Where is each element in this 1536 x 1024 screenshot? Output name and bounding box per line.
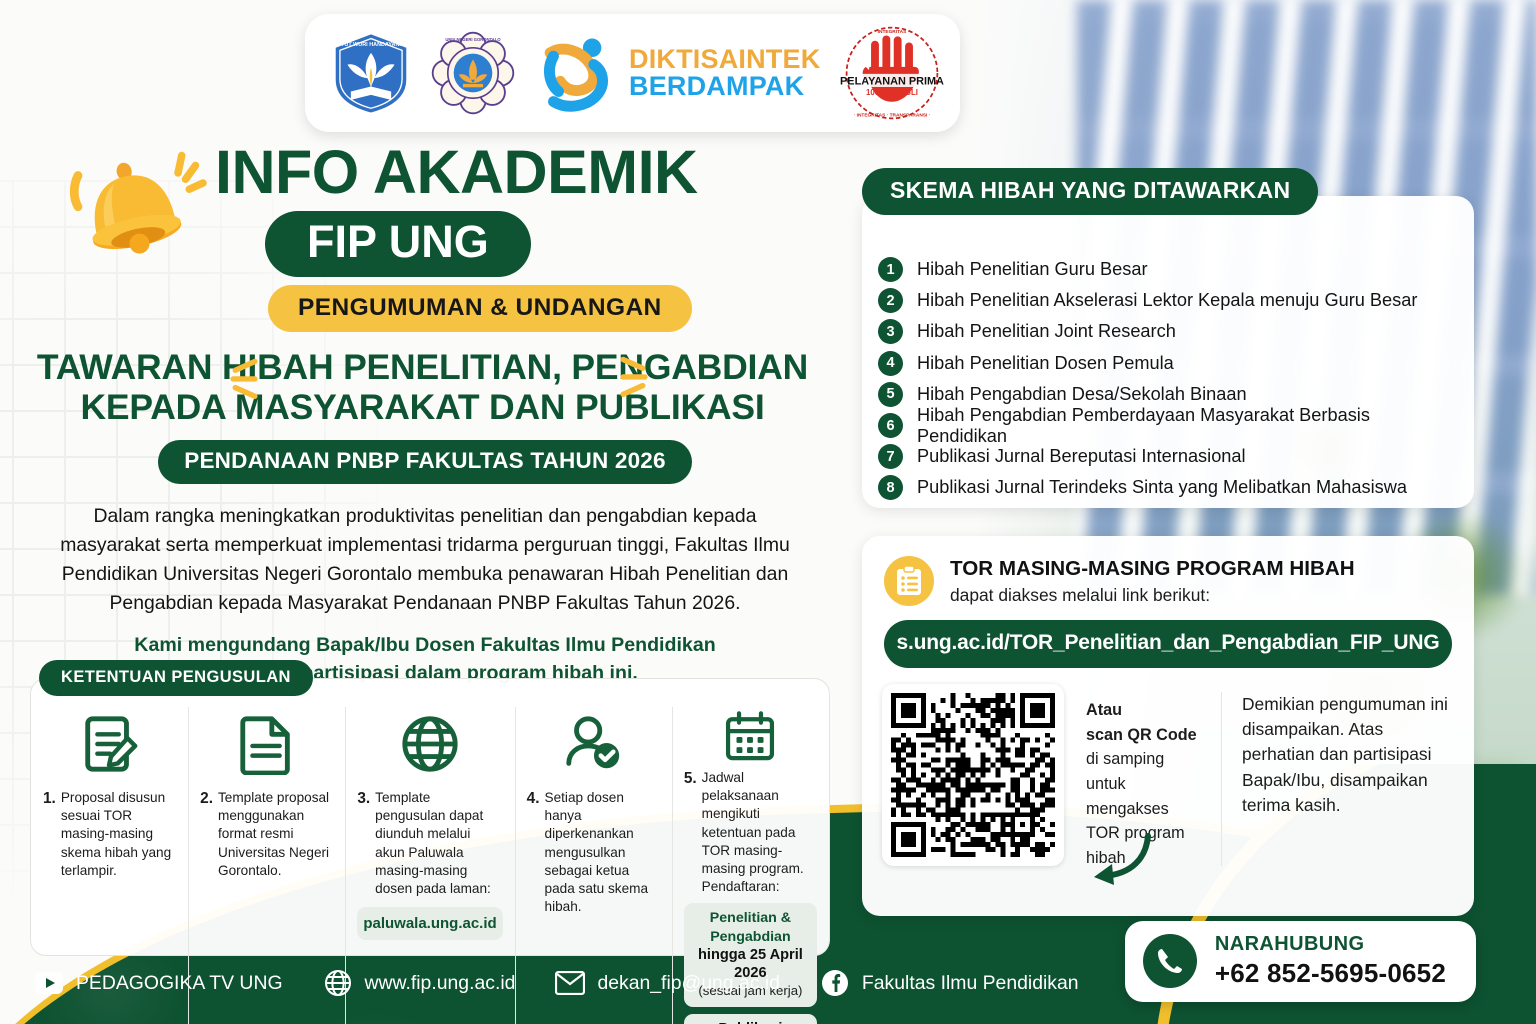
- tor-aside-text: Atau scan QR Code di samping untuk menga…: [1064, 684, 1222, 870]
- list-item-number: 8: [878, 475, 903, 500]
- diktisaintek-word-2: BERDAMPAK: [629, 73, 820, 100]
- footer-label: www.fip.ung.ac.id: [365, 972, 516, 995]
- list-item-number: 1.: [43, 789, 56, 880]
- qr-code[interactable]: [882, 684, 1064, 866]
- ketentuan-badge: KETENTUAN PENGUSULAN: [39, 660, 313, 696]
- tor-aside-line-1: Atau: [1086, 701, 1122, 719]
- youtube-icon: [34, 968, 64, 998]
- invitation-line-1: Kami mengundang Bapak/Ibu Dosen Fakultas…: [45, 632, 805, 660]
- list-item: 2 Hibah Penelitian Akselerasi Lektor Kep…: [878, 285, 1460, 316]
- list-item-number: 3.: [357, 789, 370, 898]
- tut-wuri-handayani-logo: TUT WURI HANDAYANI: [329, 31, 413, 115]
- list-item-label: Setiap dosen hanya diperkenankan mengusu…: [545, 789, 660, 916]
- ketentuan-text: 2. Template proposal menggunakan format …: [200, 789, 333, 880]
- diktisaintek-berdampak-logo: DIKTISAINTEK BERDAMPAK: [533, 31, 820, 115]
- tor-card: TOR MASING-MASING PROGRAM HIBAH dapat di…: [862, 536, 1474, 916]
- headline-line-2: KEPADA MASYARAKAT DAN PUBLIKASI: [0, 388, 845, 428]
- list-item-label: Proposal disusun sesuai TOR masing-masin…: [61, 789, 176, 880]
- list-item: 6 Hibah Pengabdian Pemberdayaan Masyarak…: [878, 410, 1460, 441]
- footer-youtube[interactable]: PEDAGOGIKA TV UNG: [34, 968, 283, 998]
- mail-icon: [555, 968, 585, 998]
- list-item-number: 2: [878, 288, 903, 313]
- list-item-number: 1: [878, 257, 903, 282]
- footer-website[interactable]: www.fip.ung.ac.id: [323, 968, 516, 998]
- announcement-pill: PENGUMUMAN & UNDANGAN: [268, 285, 692, 332]
- calendar-icon: [684, 709, 817, 765]
- clipboard-list-icon: [884, 556, 934, 606]
- footer-label: Fakultas Ilmu Pendidikan: [862, 972, 1079, 995]
- diktisaintek-mark-icon: [533, 31, 621, 115]
- svg-text:100% PUNGLI: 100% PUNGLI: [866, 88, 918, 97]
- sparkle-right-icon: [612, 353, 656, 403]
- footer-label: dekan_fip@ung.ac.id: [597, 972, 779, 995]
- list-item: 1 Hibah Penelitian Guru Besar: [878, 254, 1460, 285]
- list-item-number: 3: [878, 319, 903, 344]
- diktisaintek-word-1: DIKTISAINTEK: [629, 46, 820, 73]
- fip-ung-pill: FIP UNG: [265, 211, 531, 277]
- list-item-number: 7: [878, 444, 903, 469]
- list-item: 3 Hibah Penelitian Joint Research: [878, 316, 1460, 347]
- tor-subtitle: dapat diakses melalui link berikut:: [950, 585, 1355, 606]
- skema-hibah-badge: SKEMA HIBAH YANG DITAWARKAN: [862, 168, 1318, 215]
- skema-hibah-card: 1 Hibah Penelitian Guru Besar 2 Hibah Pe…: [862, 196, 1474, 508]
- body-paragraph: Dalam rangka meningkatkan produktivitas …: [45, 502, 805, 618]
- footer-label: PEDAGOGIKA TV UNG: [76, 972, 283, 995]
- svg-text:UNIV NEGERI GORONTALO: UNIV NEGERI GORONTALO: [445, 37, 501, 42]
- list-item-number: 4: [878, 351, 903, 376]
- svg-text:· INTEGRITAS ·: · INTEGRITAS ·: [875, 29, 910, 35]
- user-check-icon: [527, 709, 660, 779]
- list-item-label: Template proposal menggunakan format res…: [218, 789, 333, 880]
- tor-aside-line-2: scan QR Code: [1086, 726, 1197, 744]
- tor-link-button[interactable]: s.ung.ac.id/TOR_Penelitian_dan_Pengabdia…: [884, 620, 1452, 668]
- svg-text:PELAYANAN PRIMA: PELAYANAN PRIMA: [840, 75, 944, 87]
- list-item-label: Hibah Penelitian Akselerasi Lektor Kepal…: [917, 290, 1417, 311]
- logo-bar: TUT WURI HANDAYANI UNIV NEGERI GORONTALO: [305, 14, 960, 132]
- facebook-icon: [820, 968, 850, 998]
- curved-arrow-icon: [1082, 832, 1158, 888]
- list-item-number: 5: [878, 382, 903, 407]
- list-item-label: Hibah Penelitian Guru Besar: [917, 259, 1148, 280]
- list-item-label: Publikasi Jurnal Terindeks Sinta yang Me…: [917, 477, 1407, 498]
- headline-line-1: TAWARAN HIBAH PENELITIAN, PENGABDIAN: [0, 348, 845, 388]
- narahubung-phone: +62 852-5695-0652: [1215, 958, 1446, 989]
- list-item-number: 2.: [200, 789, 213, 880]
- tor-closing-text: Demikian pengumuman ini disampaikan. Ata…: [1222, 684, 1454, 870]
- list-item-label: Hibah Penelitian Dosen Pemula: [917, 353, 1174, 374]
- ketentuan-text: 1. Proposal disusun sesuai TOR masing-ma…: [43, 789, 176, 880]
- page-title: INFO AKADEMIK: [215, 142, 850, 203]
- tor-title: TOR MASING-MASING PROGRAM HIBAH: [950, 556, 1355, 582]
- ketentuan-text: 4. Setiap dosen hanya diperkenankan meng…: [527, 789, 660, 916]
- left-content-column: INFO AKADEMIK FIP UNG PENGUMUMAN & UNDAN…: [0, 120, 850, 688]
- globe-icon: [323, 968, 353, 998]
- tor-aside-line-4: untuk mengakses: [1086, 775, 1169, 818]
- ketentuan-grid: 1. Proposal disusun sesuai TOR masing-ma…: [31, 701, 829, 949]
- tor-header: TOR MASING-MASING PROGRAM HIBAH dapat di…: [862, 536, 1474, 606]
- list-item-label: Jadwal pelaksanaan mengikuti ketentuan p…: [702, 769, 817, 896]
- svg-text:TUT WURI HANDAYANI: TUT WURI HANDAYANI: [341, 42, 401, 48]
- qr-code-canvas[interactable]: [891, 693, 1055, 857]
- tor-aside-line-3: di samping: [1086, 750, 1164, 768]
- footer-facebook[interactable]: Fakultas Ilmu Pendidikan: [820, 968, 1079, 998]
- universitas-negeri-gorontalo-logo: UNIV NEGERI GORONTALO: [431, 31, 515, 115]
- narahubung-card[interactable]: NARAHUBUNG +62 852-5695-0652: [1125, 921, 1476, 1002]
- headline: TAWARAN HIBAH PENELITIAN, PENGABDIAN KEP…: [0, 348, 845, 428]
- list-item-number: 5.: [684, 769, 697, 896]
- list-item-label: Hibah Pengabdian Desa/Sekolah Binaan: [917, 384, 1247, 405]
- footer: PEDAGOGIKA TV UNG www.fip.ung.ac.id deka…: [0, 914, 1536, 1024]
- list-item-number: 4.: [527, 789, 540, 916]
- footer-contact-list: PEDAGOGIKA TV UNG www.fip.ung.ac.id deka…: [34, 968, 1079, 998]
- tor-body: Atau scan QR Code di samping untuk menga…: [862, 668, 1474, 870]
- globe-icon: [357, 709, 502, 779]
- list-item: 8 Publikasi Jurnal Terindeks Sinta yang …: [878, 472, 1460, 503]
- list-item-number: 6: [878, 413, 903, 438]
- svg-text:· INTEGRITAS · TRANSPARANSI ·: · INTEGRITAS · TRANSPARANSI ·: [854, 113, 931, 119]
- list-item: 4 Hibah Penelitian Dosen Pemula: [878, 348, 1460, 379]
- footer-email[interactable]: dekan_fip@ung.ac.id: [555, 968, 779, 998]
- sparkle-left-icon: [222, 355, 266, 405]
- list-item-label: Publikasi Jurnal Bereputasi Internasiona…: [917, 446, 1246, 467]
- list-item-label: Hibah Penelitian Joint Research: [917, 321, 1176, 342]
- document-edit-icon: [43, 709, 176, 779]
- narahubung-title: NARAHUBUNG: [1215, 933, 1446, 956]
- list-item-label: Template pengusulan dapat diunduh melalu…: [375, 789, 503, 898]
- fip-ung-pill-wrap: FIP UNG: [0, 203, 850, 275]
- list-item-label: Hibah Pengabdian Pemberdayaan Masyarakat…: [917, 405, 1460, 447]
- document-icon: [200, 709, 333, 779]
- phone-icon: [1143, 934, 1197, 988]
- pelayanan-prima-logo: PELAYANAN PRIMA 100% PUNGLI · INTEGRITAS…: [838, 25, 946, 121]
- funding-pill: PENDANAAN PNBP FAKULTAS TAHUN 2026: [158, 440, 691, 484]
- poster-canvas: TUT WURI HANDAYANI UNIV NEGERI GORONTALO: [0, 0, 1536, 1024]
- ketentuan-text: 3. Template pengusulan dapat diunduh mel…: [357, 789, 502, 898]
- skema-list: 1 Hibah Penelitian Guru Besar 2 Hibah Pe…: [878, 254, 1460, 504]
- ketentuan-text: 5. Jadwal pelaksanaan mengikuti ketentua…: [684, 769, 817, 896]
